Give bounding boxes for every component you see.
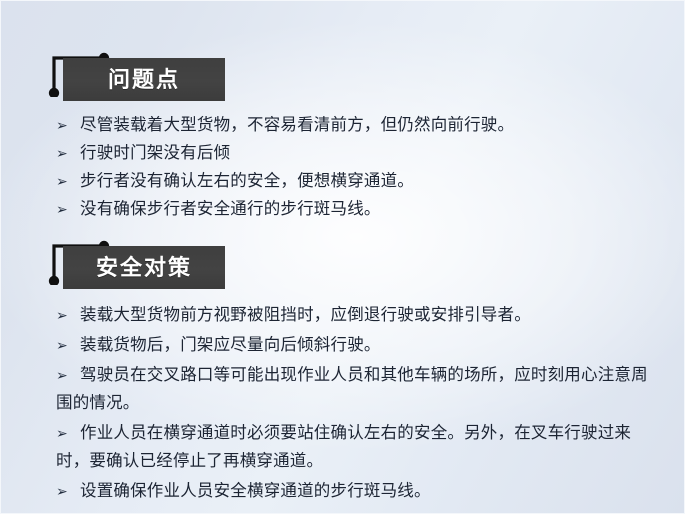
list-item: ➢设置确保作业人员安全横穿通道的步行斑马线。	[56, 477, 661, 505]
list-item-text: 驾驶员在交叉路口等可能出现作业人员和其他车辆的场所，应时刻用心注意周围的情况。	[56, 366, 648, 412]
bullet-list-problems: ➢尽管装载着大型货物，不容易看清前方，但仍然向前行驶。 ➢行驶时门架没有后倾 ➢…	[56, 111, 661, 223]
bullet-arrow-icon: ➢	[56, 331, 80, 359]
heading-wrap-problems: 问题点	[1, 41, 685, 101]
bullet-arrow-icon: ➢	[56, 477, 80, 505]
bullet-arrow-icon: ➢	[56, 361, 80, 389]
list-item-text: 行驶时门架没有后倾	[80, 144, 230, 162]
heading-box-measures: 安全对策	[63, 246, 225, 289]
list-item: ➢尽管装载着大型货物，不容易看清前方，但仍然向前行驶。	[56, 111, 661, 139]
list-item: ➢步行者没有确认左右的安全，便想横穿通道。	[56, 167, 661, 195]
heading-box-problems: 问题点	[63, 58, 225, 101]
list-item-text: 设置确保作业人员安全横穿通道的步行斑马线。	[80, 482, 431, 500]
list-item-text: 尽管装载着大型货物，不容易看清前方，但仍然向前行驶。	[80, 116, 514, 134]
section-measures: 安全对策 ➢装载大型货物前方视野被阻挡时，应倒退行驶或安排引导者。 ➢装载货物后…	[1, 229, 685, 289]
list-item-text: 没有确保步行者安全通行的步行斑马线。	[80, 200, 381, 218]
slide-canvas: 问题点 ➢尽管装载着大型货物，不容易看清前方，但仍然向前行驶。 ➢行驶时门架没有…	[0, 0, 685, 514]
bullet-arrow-icon: ➢	[56, 195, 80, 223]
bullet-arrow-icon: ➢	[56, 301, 80, 329]
section-problems: 问题点 ➢尽管装载着大型货物，不容易看清前方，但仍然向前行驶。 ➢行驶时门架没有…	[1, 41, 685, 101]
heading-label-measures: 安全对策	[96, 257, 192, 279]
heading-label-problems: 问题点	[108, 69, 180, 91]
heading-wrap-measures: 安全对策	[1, 229, 685, 289]
bullet-arrow-icon: ➢	[56, 419, 80, 447]
list-item-text: 步行者没有确认左右的安全，便想横穿通道。	[80, 172, 414, 190]
list-item-text: 作业人员在横穿通道时必须要站住确认左右的安全。另外，在叉车行驶过来时，要确认已经…	[56, 424, 631, 470]
list-item: ➢驾驶员在交叉路口等可能出现作业人员和其他车辆的场所，应时刻用心注意周围的情况。	[56, 361, 661, 417]
list-item: ➢装载货物后，门架应尽量向后倾斜行驶。	[56, 331, 661, 359]
list-item: ➢行驶时门架没有后倾	[56, 139, 661, 167]
bullet-arrow-icon: ➢	[56, 139, 80, 167]
bullet-arrow-icon: ➢	[56, 111, 80, 139]
list-item: ➢装载大型货物前方视野被阻挡时，应倒退行驶或安排引导者。	[56, 301, 661, 329]
list-item: ➢作业人员在横穿通道时必须要站住确认左右的安全。另外，在叉车行驶过来时，要确认已…	[56, 419, 661, 475]
bullet-arrow-icon: ➢	[56, 167, 80, 195]
list-item: ➢没有确保步行者安全通行的步行斑马线。	[56, 195, 661, 223]
list-item-text: 装载大型货物前方视野被阻挡时，应倒退行驶或安排引导者。	[80, 306, 531, 324]
list-item-text: 装载货物后，门架应尽量向后倾斜行驶。	[80, 336, 381, 354]
bullet-list-measures: ➢装载大型货物前方视野被阻挡时，应倒退行驶或安排引导者。 ➢装载货物后，门架应尽…	[56, 301, 661, 507]
